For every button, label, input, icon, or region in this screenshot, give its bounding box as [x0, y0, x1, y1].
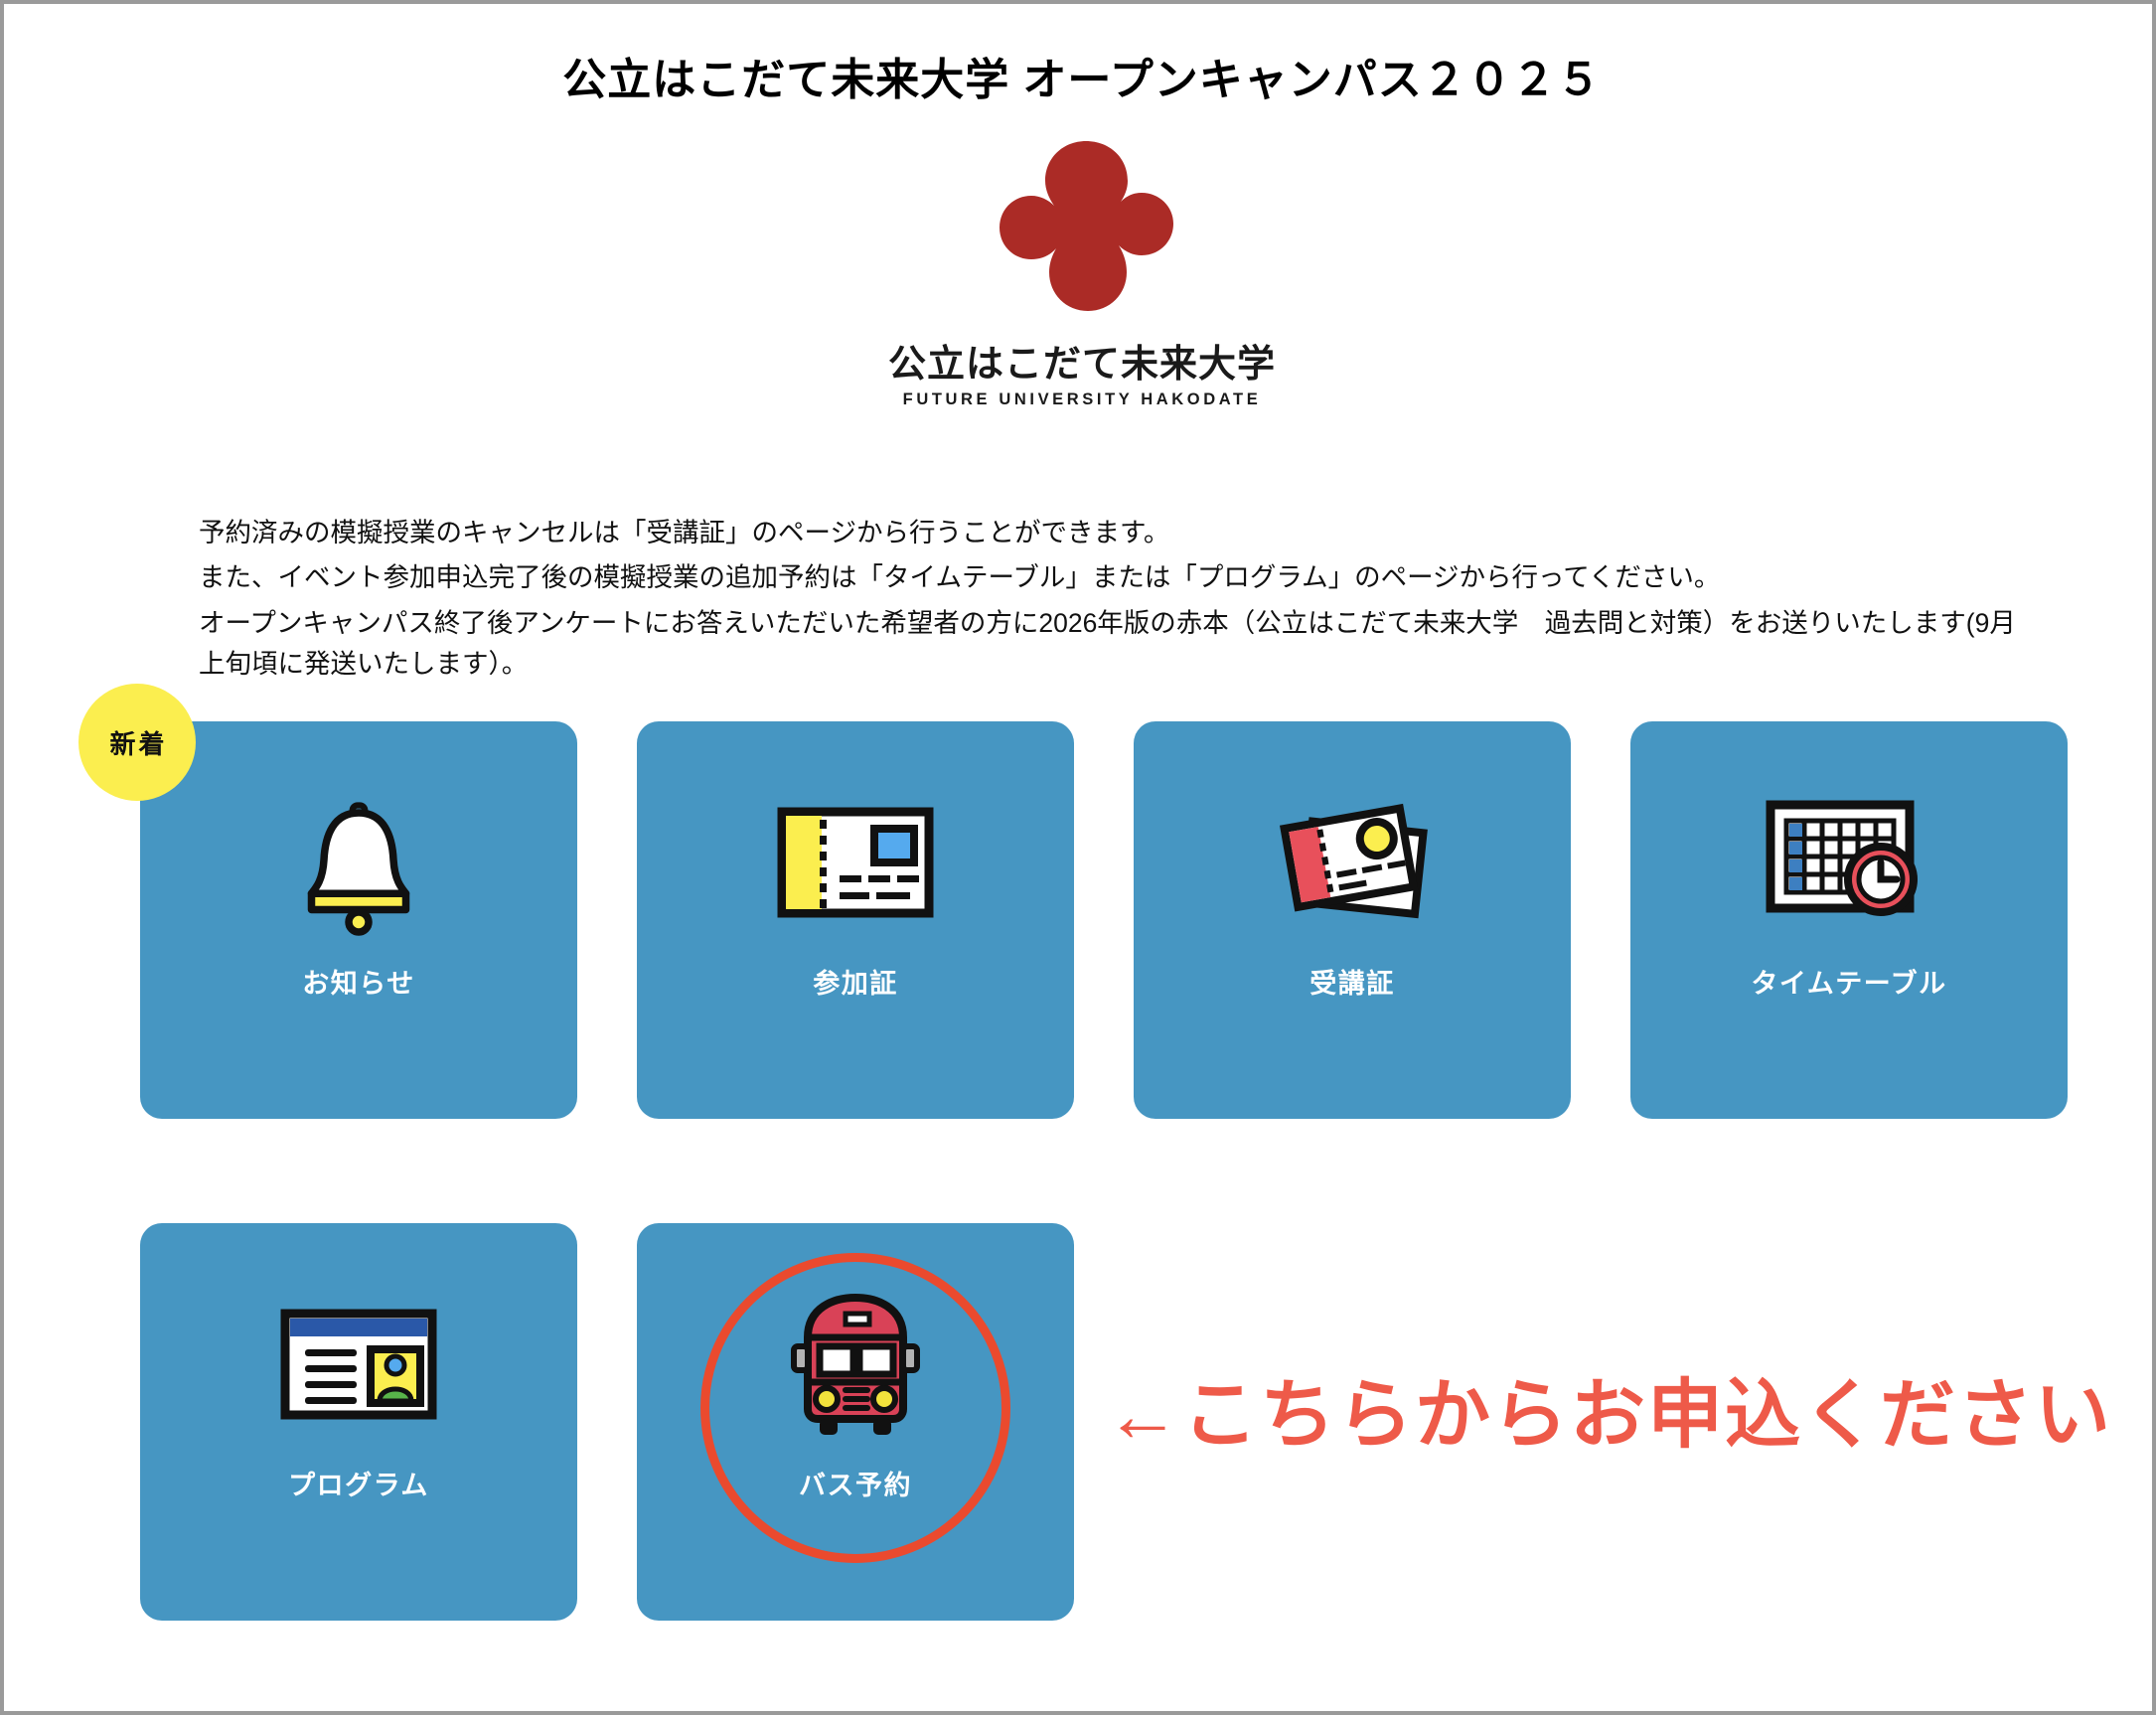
tile-row-1: 新着 お知らせ — [140, 721, 2070, 1119]
ticket-icon — [766, 793, 945, 932]
tile-label-sankasho: 参加証 — [813, 962, 898, 1001]
tile-label-program: プログラム — [288, 1464, 429, 1502]
tile-oshirase[interactable]: 新着 お知らせ — [140, 721, 577, 1119]
university-logo: 公立はこだて未来大学 FUTURE UNIVERSITY HAKODATE — [4, 139, 2156, 409]
page-root: 公立はこだて未来大学 オープンキャンパス２０２５ 公立はこだて未来大学 FUTU… — [0, 0, 2156, 1715]
tickets-icon — [1263, 793, 1442, 932]
tile-grid: 新着 お知らせ — [140, 721, 2070, 1621]
bus-icon — [766, 1295, 945, 1434]
logo-name-jp: 公立はこだて未来大学 — [888, 333, 1276, 388]
logo-name-en: FUTURE UNIVERSITY HAKODATE — [903, 390, 1262, 409]
page-title: 公立はこだて未来大学 オープンキャンパス２０２５ — [4, 44, 2156, 107]
notice-line-2: また、イベント参加申込完了後の模擬授業の追加予約は「タイムテーブル」または「プロ… — [199, 557, 2017, 598]
tile-label-oshirase: お知らせ — [302, 962, 414, 1001]
timetable-icon — [1760, 793, 1938, 932]
notice-text: 予約済みの模擬授業のキャンセルは「受講証」のページから行うことができます。 また… — [199, 513, 2017, 689]
tile-label-jukosho: 受講証 — [1309, 962, 1395, 1001]
notice-line-3: オープンキャンパス終了後アンケートにお答えいただいた希望者の方に2026年版の赤… — [199, 603, 2017, 686]
bell-icon — [269, 793, 448, 932]
program-icon — [269, 1295, 448, 1434]
tile-label-bus-yoyaku: バス予約 — [799, 1464, 912, 1502]
hakodate-blob-logo-icon — [983, 139, 1181, 323]
tile-timetable[interactable]: タイムテーブル — [1630, 721, 2068, 1119]
tile-program[interactable]: プログラム — [140, 1223, 577, 1621]
notice-line-1: 予約済みの模擬授業のキャンセルは「受講証」のページから行うことができます。 — [199, 513, 2017, 553]
tile-sankasho[interactable]: 参加証 — [637, 721, 1074, 1119]
signup-callout: ←こちらからお申込ください — [1105, 1353, 2112, 1463]
tile-bus-yoyaku[interactable]: バス予約 — [637, 1223, 1074, 1621]
tile-label-timetable: タイムテーブル — [1751, 962, 1946, 1001]
tile-jukosho[interactable]: 受講証 — [1134, 721, 1571, 1119]
new-badge: 新着 — [78, 684, 196, 801]
new-badge-label: 新着 — [106, 724, 167, 761]
